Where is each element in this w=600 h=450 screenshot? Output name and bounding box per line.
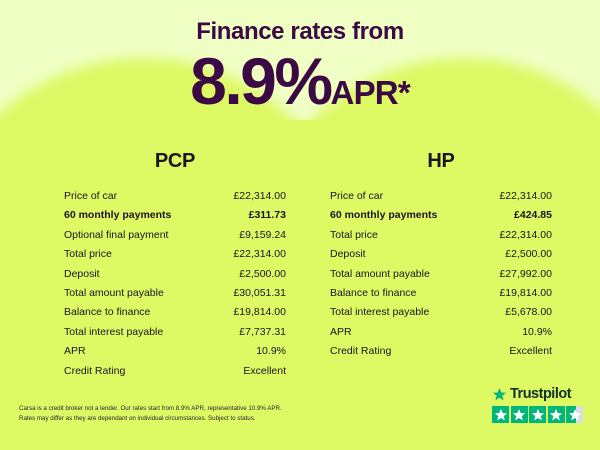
finance-row-value: £2,500.00 <box>505 245 552 264</box>
finance-row: 60 monthly payments£424.85 <box>330 206 552 225</box>
finance-row-value: £311.73 <box>249 206 286 225</box>
finance-column-pcp: PCP Price of car£22,314.0060 monthly pay… <box>64 150 286 381</box>
finance-row-value: £2,500.00 <box>239 265 286 284</box>
finance-row-value: £22,314.00 <box>233 245 286 264</box>
finance-row-label: Total price <box>64 245 112 264</box>
rate-value: 8.9% <box>190 44 330 118</box>
finance-row-label: APR <box>330 323 352 342</box>
disclaimer-line-2: Rates may differ as they are dependant o… <box>19 414 349 424</box>
finance-row-value: 10.9% <box>256 342 286 361</box>
finance-row-label: Total amount payable <box>330 265 430 284</box>
finance-row: Total price£22,314.00 <box>330 226 552 245</box>
finance-row-label: Credit Rating <box>330 342 391 361</box>
finance-row: Total price£22,314.00 <box>64 245 286 264</box>
legal-disclaimer: Carsa is a credit broker not a lender. O… <box>19 404 349 423</box>
finance-row-value: £19,814.00 <box>499 284 552 303</box>
finance-row-value: £22,314.00 <box>499 187 552 206</box>
finance-row: Credit RatingExcellent <box>330 342 552 361</box>
finance-row-label: Total price <box>330 226 378 245</box>
trustpilot-logo: Trustpilot <box>492 386 588 403</box>
headline-rate: 8.9%APR* <box>0 48 600 114</box>
trustpilot-star-icon <box>566 406 583 423</box>
finance-row-value: £5,678.00 <box>505 303 552 322</box>
finance-row: Price of car£22,314.00 <box>64 187 286 206</box>
finance-row: 60 monthly payments£311.73 <box>64 206 286 225</box>
finance-row-value: £19,814.00 <box>233 303 286 322</box>
finance-row-label: Price of car <box>64 187 117 206</box>
page-eyebrow-heading: Finance rates from <box>0 18 600 46</box>
finance-row-label: Price of car <box>330 187 383 206</box>
finance-row-label: Balance to finance <box>64 303 150 322</box>
finance-row-value: 10.9% <box>522 323 552 342</box>
rate-suffix: APR* <box>331 74 410 111</box>
hp-rows: Price of car£22,314.0060 monthly payment… <box>330 187 552 362</box>
finance-row: Total interest payable£5,678.00 <box>330 303 552 322</box>
finance-row-label: Optional final payment <box>64 226 168 245</box>
finance-row: Optional final payment£9,159.24 <box>64 226 286 245</box>
pcp-rows: Price of car£22,314.0060 monthly payment… <box>64 187 286 381</box>
finance-row: Deposit£2,500.00 <box>330 245 552 264</box>
trustpilot-star-icon <box>529 406 546 423</box>
finance-row-label: Deposit <box>64 265 100 284</box>
finance-row: APR10.9% <box>64 342 286 361</box>
trustpilot-star-icon <box>492 387 507 402</box>
finance-row-value: £9,159.24 <box>239 226 286 245</box>
finance-row-label: Total interest payable <box>64 323 163 342</box>
finance-row-value: £22,314.00 <box>233 187 286 206</box>
finance-row: Deposit£2,500.00 <box>64 265 286 284</box>
finance-row-label: APR <box>64 342 86 361</box>
finance-row-value: £22,314.00 <box>499 226 552 245</box>
trustpilot-star-rating <box>492 406 588 423</box>
finance-row: Price of car£22,314.00 <box>330 187 552 206</box>
finance-row-value: Excellent <box>509 342 552 361</box>
finance-rates-poster: Finance rates from 8.9%APR* PCP Price of… <box>0 0 600 450</box>
finance-row: Credit RatingExcellent <box>64 362 286 381</box>
finance-row: Balance to finance£19,814.00 <box>330 284 552 303</box>
finance-row-label: Total amount payable <box>64 284 164 303</box>
finance-row: Balance to finance£19,814.00 <box>64 303 286 322</box>
finance-row: Total amount payable£30,051.31 <box>64 284 286 303</box>
trustpilot-star-icon <box>548 406 565 423</box>
finance-column-hp: HP Price of car£22,314.0060 monthly paym… <box>330 150 552 362</box>
finance-row-value: £424.85 <box>514 206 552 225</box>
finance-row-label: Total interest payable <box>330 303 429 322</box>
finance-row: APR10.9% <box>330 323 552 342</box>
trustpilot-wordmark: Trustpilot <box>510 387 571 402</box>
disclaimer-line-1: Carsa is a credit broker not a lender. O… <box>19 404 349 414</box>
trustpilot-star-icon <box>492 406 509 423</box>
finance-row-value: Excellent <box>243 362 286 381</box>
trustpilot-star-icon <box>511 406 528 423</box>
finance-row-label: Balance to finance <box>330 284 416 303</box>
trustpilot-badge[interactable]: Trustpilot <box>492 386 588 423</box>
finance-row: Total interest payable£7,737.31 <box>64 323 286 342</box>
finance-row-label: 60 monthly payments <box>330 206 437 225</box>
finance-row-label: Deposit <box>330 245 366 264</box>
finance-row-label: 60 monthly payments <box>64 206 171 225</box>
column-title-pcp: PCP <box>64 150 286 173</box>
column-title-hp: HP <box>330 150 552 173</box>
finance-row-value: £27,992.00 <box>499 265 552 284</box>
finance-row: Total amount payable£27,992.00 <box>330 265 552 284</box>
finance-row-label: Credit Rating <box>64 362 125 381</box>
finance-row-value: £30,051.31 <box>233 284 286 303</box>
finance-row-value: £7,737.31 <box>239 323 286 342</box>
